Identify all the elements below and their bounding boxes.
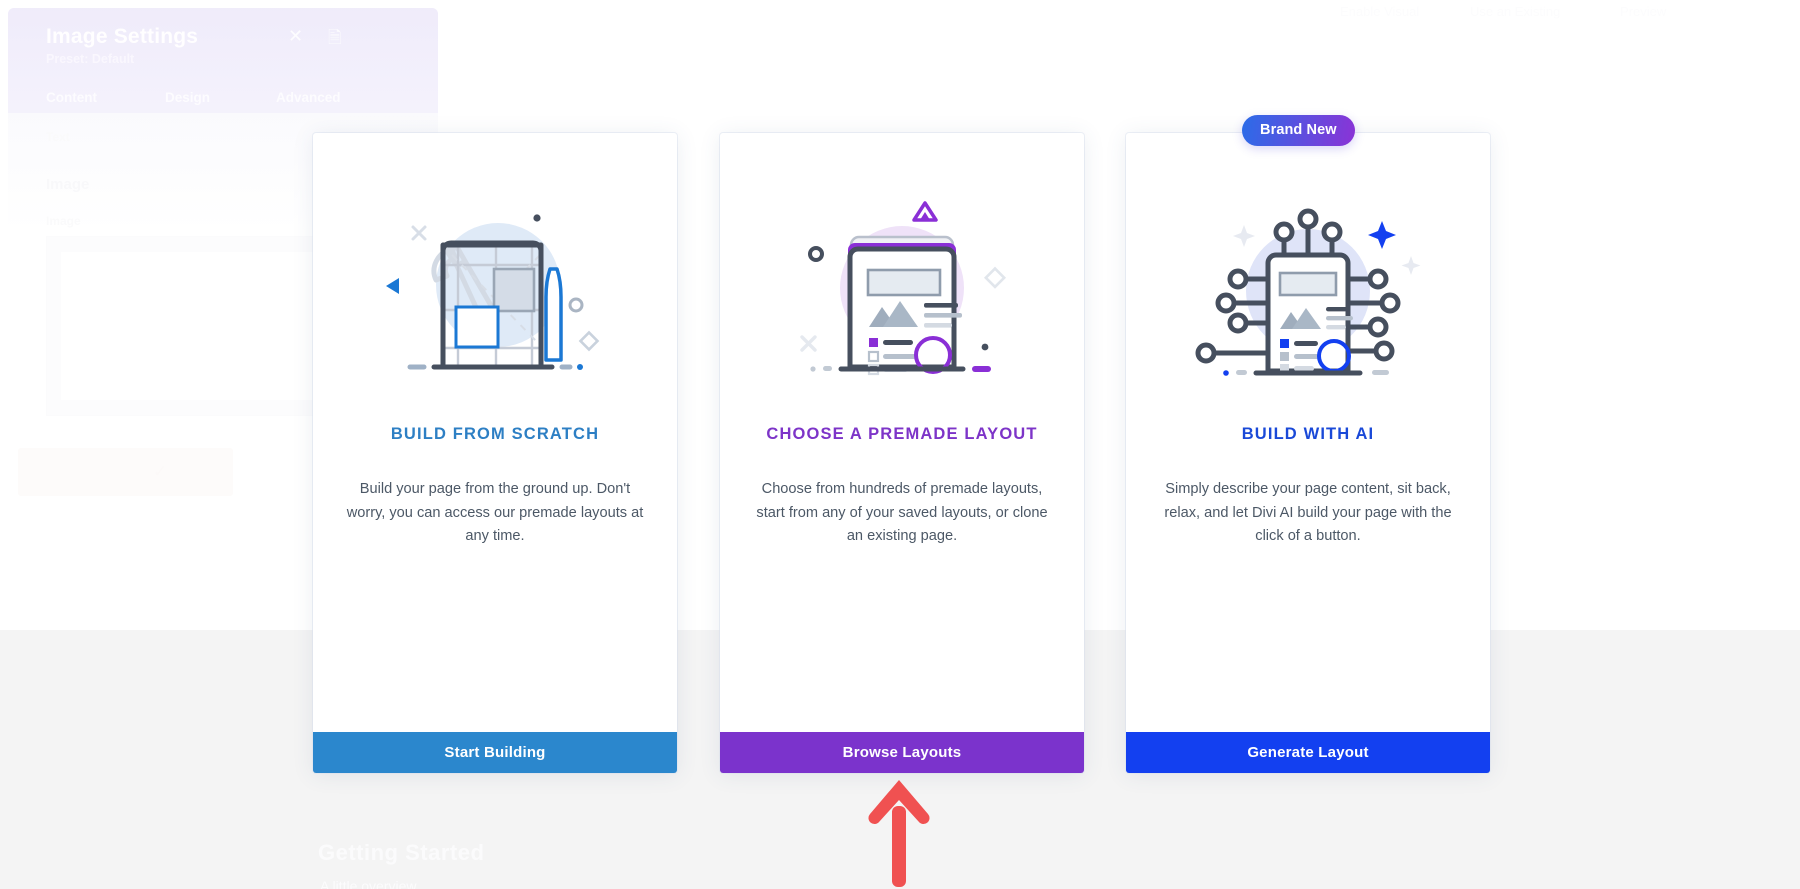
browse-layouts-button[interactable]: Browse Layouts (720, 732, 1084, 773)
card-choose-premade-layout[interactable]: CHOOSE A PREMADE LAYOUT Choose from hund… (720, 133, 1084, 773)
up-arrow-icon (868, 778, 930, 889)
card-description: Build your page from the ground up. Don'… (343, 478, 647, 732)
start-building-button[interactable]: Start Building (313, 732, 677, 773)
divi-builder-start-screen: Enable Visual Use an Existing Preview Im… (0, 0, 1800, 889)
layout-document-illustration (720, 133, 1084, 423)
card-heading: CHOOSE A PREMADE LAYOUT (720, 425, 1084, 444)
card-heading: BUILD WITH AI (1126, 425, 1490, 444)
start-option-cards: BUILD FROM SCRATCH Build your page from … (0, 0, 1800, 889)
generate-layout-button[interactable]: Generate Layout (1126, 732, 1490, 773)
card-heading: BUILD FROM SCRATCH (313, 425, 677, 444)
card-description: Simply describe your page content, sit b… (1156, 478, 1460, 732)
card-build-from-scratch[interactable]: BUILD FROM SCRATCH Build your page from … (313, 133, 677, 773)
card-build-with-ai[interactable]: BUILD WITH AI Simply describe your page … (1126, 133, 1490, 773)
card-description: Choose from hundreds of premade layouts,… (750, 478, 1054, 732)
status-badge-brand-new: Brand New (1242, 115, 1355, 146)
blueprint-pencil-illustration (313, 133, 677, 423)
ai-circuit-document-illustration (1126, 133, 1490, 423)
